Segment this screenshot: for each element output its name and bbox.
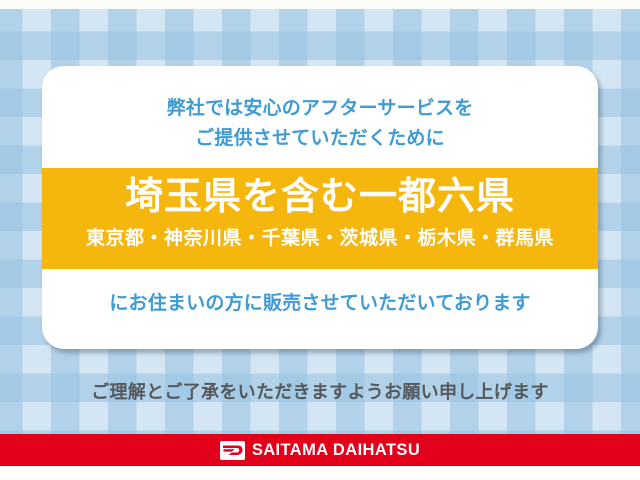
banner-prefecture-list: 東京都・神奈川県・千葉県・茨城県・栃木県・群馬県: [42, 225, 598, 253]
region-highlight-banner: 埼玉県を含む一都六県 東京都・神奈川県・千葉県・茨城県・栃木県・群馬県: [42, 168, 598, 269]
closing-text-block: にお住まいの方に販売させていただいております: [42, 290, 598, 318]
daihatsu-logo-icon: [220, 441, 245, 460]
notice-card: 弊社では安心のアフターサービスを ご提供させていただくために 埼玉県を含む一都六…: [42, 66, 598, 349]
brand-name-text: SAITAMA DAIHATSU: [252, 441, 420, 460]
bottom-white-strip: [0, 466, 640, 480]
intro-text-block: 弊社では安心のアフターサービスを ご提供させていただくために: [42, 94, 598, 154]
brand-footer-bar: SAITAMA DAIHATSU: [0, 434, 640, 466]
advertisement-banner: 弊社では安心のアフターサービスを ご提供させていただくために 埼玉県を含む一都六…: [0, 0, 640, 480]
intro-line-2: ご提供させていただくために: [42, 124, 598, 154]
intro-line-1: 弊社では安心のアフターサービスを: [42, 94, 598, 124]
brand-lockup: SAITAMA DAIHATSU: [220, 441, 420, 460]
top-white-strip: [0, 0, 640, 9]
banner-headline: 埼玉県を含む一都六県: [42, 172, 598, 222]
closing-line-1: にお住まいの方に販売させていただいております: [42, 290, 598, 318]
understanding-note: ご理解とご了承をいただきますようお願い申し上げます: [0, 378, 640, 404]
